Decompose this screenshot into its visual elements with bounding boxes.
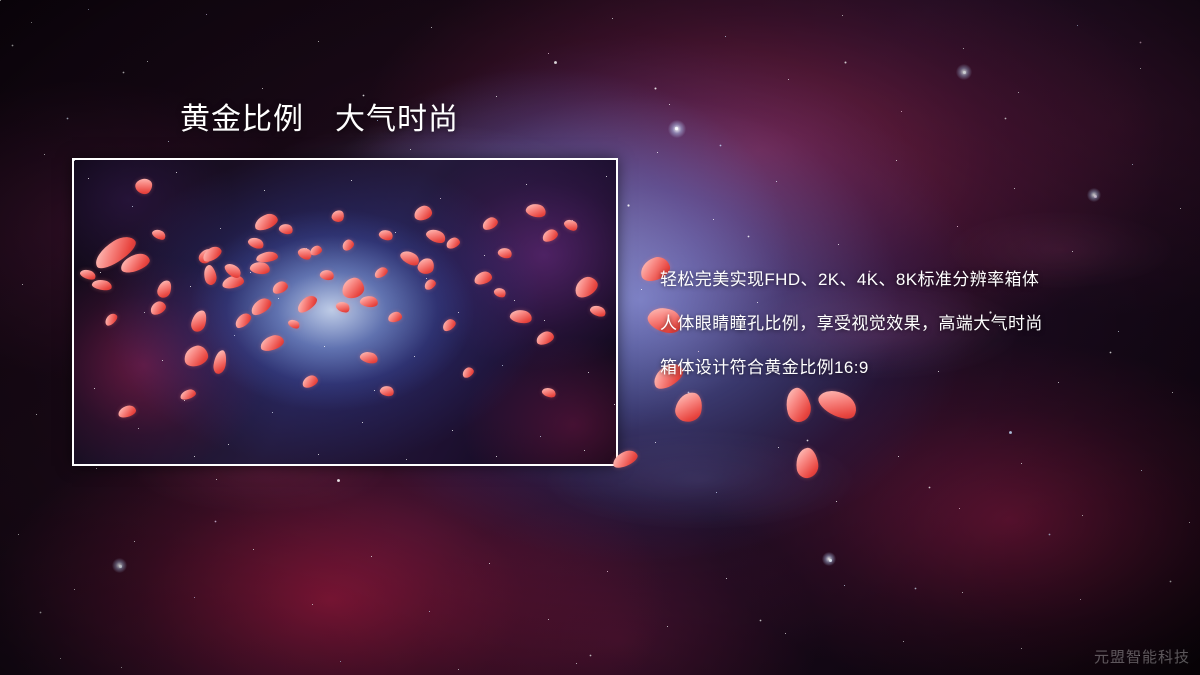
watermark: 元盟智能科技: [1094, 646, 1190, 667]
body-line: 轻松完美实现FHD、2K、4K、8K标准分辨率箱体: [660, 258, 1130, 302]
presentation-slide: 黄金比例 大气时尚: [0, 0, 1200, 675]
body-copy: 轻松完美实现FHD、2K、4K、8K标准分辨率箱体 人体眼睛瞳孔比例，享受视觉效…: [660, 258, 1130, 390]
star-layer-small: [0, 0, 1, 1]
preview-starfield: [74, 160, 75, 161]
petal: [782, 385, 814, 424]
glow-star: [822, 552, 836, 566]
petal: [794, 447, 820, 480]
slide-title: 黄金比例 大气时尚: [180, 103, 459, 136]
preview-image-frame[interactable]: [72, 158, 618, 466]
body-line: 箱体设计符合黄金比例16:9: [660, 346, 1130, 390]
glow-star: [1087, 188, 1101, 202]
petal: [673, 390, 705, 425]
glow-star: [956, 64, 972, 80]
glow-star: [668, 120, 686, 138]
glow-star: [112, 558, 127, 573]
star-layer-medium: [0, 0, 1, 1]
body-line: 人体眼睛瞳孔比例，享受视觉效果，高端大气时尚: [660, 302, 1130, 346]
star-layer-bright: [0, 0, 1, 1]
